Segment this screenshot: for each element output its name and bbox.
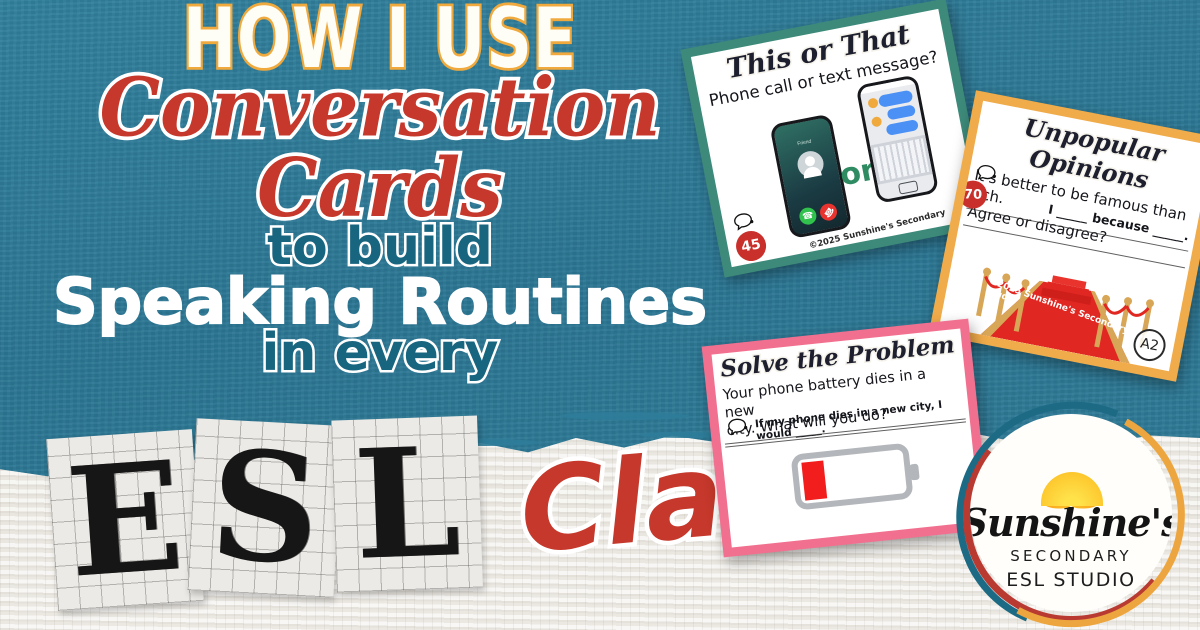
logo-script-text: Sunshine's — [970, 500, 1172, 545]
esl-letter-s-glyph: S — [208, 444, 323, 573]
headline-line-2: Conversation Cards — [0, 68, 760, 229]
esl-letter-l: L — [331, 416, 483, 593]
sun-core — [1041, 472, 1103, 506]
card-solve-the-problem-body: Solve the Problem Your phone battery die… — [712, 328, 981, 547]
brand-logo[interactable]: Sunshine's SECONDARY ESL STUDIO — [956, 402, 1188, 630]
keyboard-icon — [870, 135, 933, 185]
logo-face: Sunshine's SECONDARY ESL STUDIO — [970, 414, 1172, 612]
logo-esl-studio-text: ESL STUDIO — [1006, 569, 1135, 591]
low-battery-icon — [790, 443, 913, 511]
phone-caller-label: Friend — [776, 135, 832, 152]
speech-bubble-icon — [726, 417, 748, 436]
esl-letter-l-glyph: L — [352, 441, 462, 568]
card-unpopular-opinions-body: Unpopular Opinions It's better to be fam… — [939, 101, 1200, 371]
sun-icon — [1015, 444, 1127, 506]
phone-call-icon: ☎ — [798, 206, 818, 226]
card-this-or-that-number-badge: 45 — [733, 228, 768, 263]
headline-stack: HOW I USE Conversation Cards to build Sp… — [0, 0, 760, 381]
speech-bubble-icon — [975, 163, 998, 184]
card-this-or-that-body: This or That Phone call or text message?… — [691, 9, 979, 267]
poster-canvas: HOW I USE Conversation Cards to build Sp… — [0, 0, 1200, 630]
phone-hangup-icon: ☎ — [817, 200, 841, 224]
esl-letter-e: E — [46, 429, 204, 611]
esl-letter-e-glyph: E — [64, 455, 187, 586]
logo-secondary-text: SECONDARY — [1010, 547, 1131, 565]
speech-bubble-icon — [732, 211, 755, 232]
avatar — [795, 149, 825, 179]
card-solve-the-problem[interactable]: Solve the Problem Your phone battery die… — [702, 319, 991, 558]
esl-letter-s: S — [188, 418, 343, 597]
esl-block-letters: E S L — [52, 418, 522, 608]
battery-fill — [801, 461, 827, 501]
